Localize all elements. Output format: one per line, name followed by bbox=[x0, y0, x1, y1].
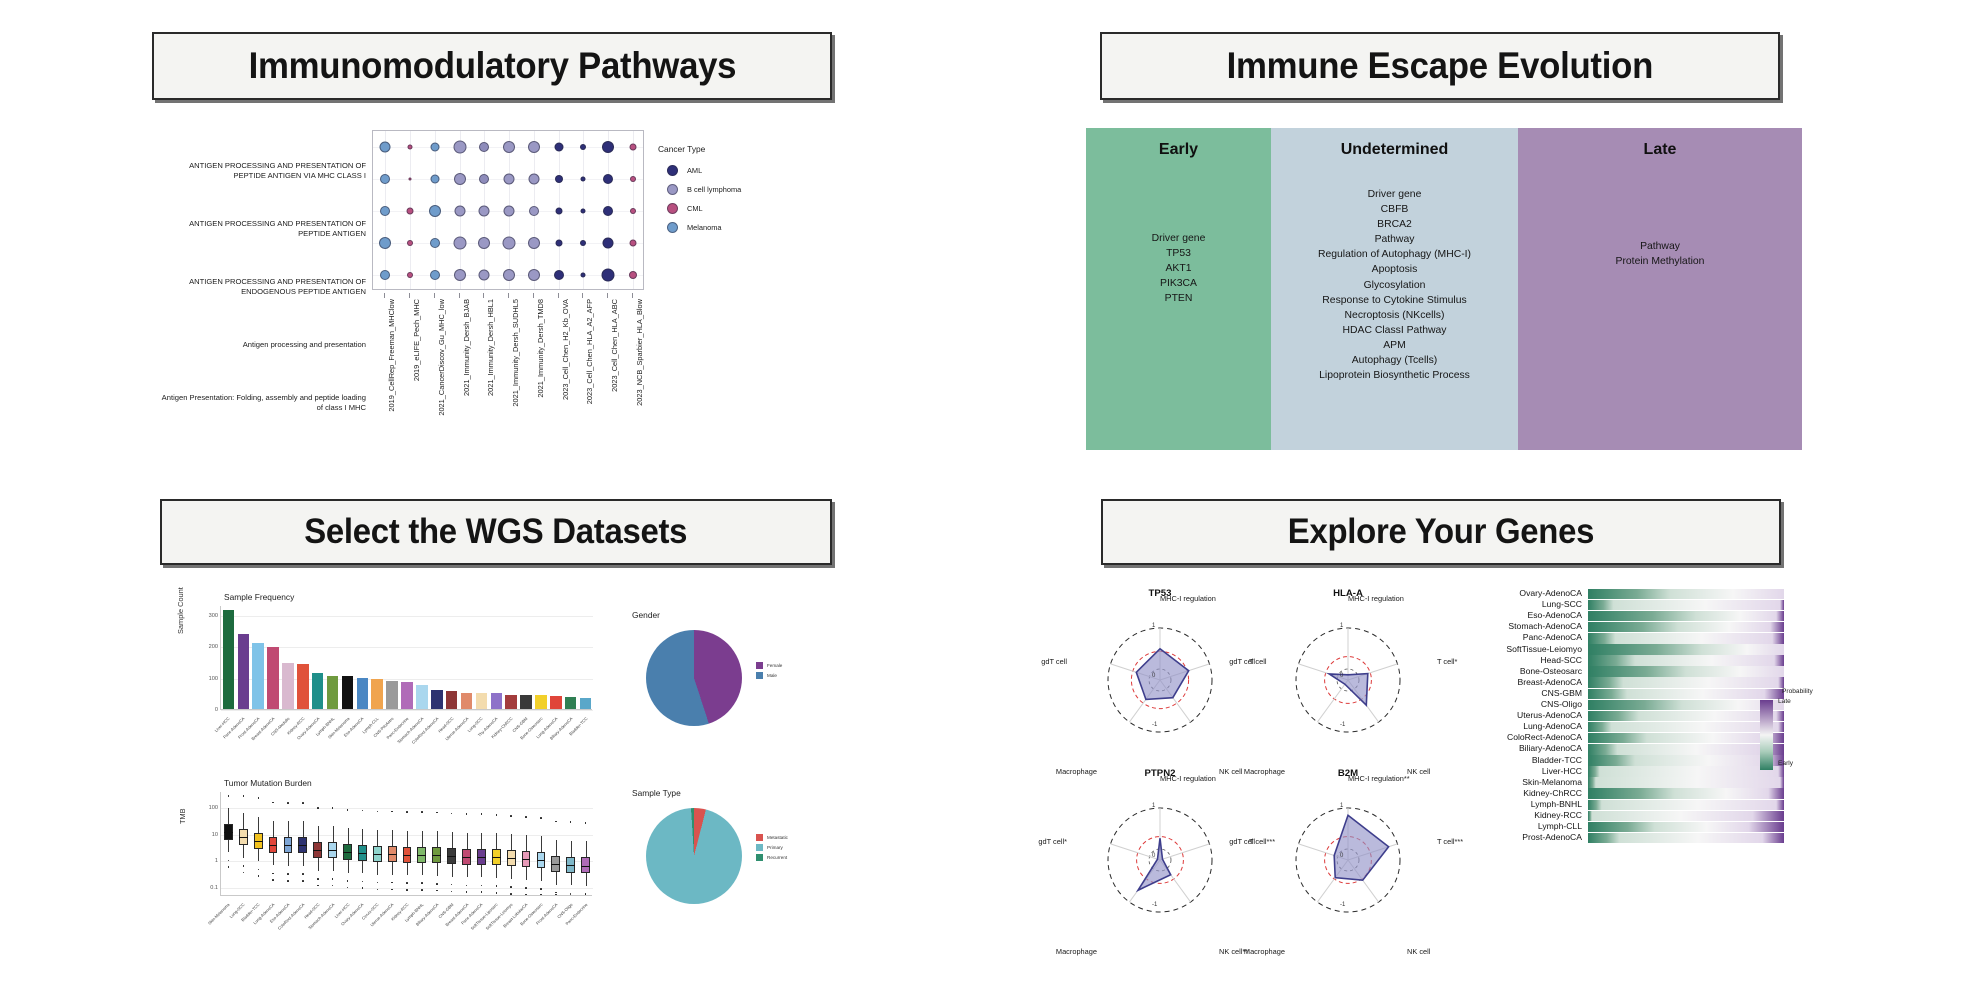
gender-pie-legend-label: Male bbox=[767, 673, 777, 678]
heatmap-row-label: SoftTissue-Leiomyo bbox=[1452, 644, 1582, 656]
dotplot-dot[interactable] bbox=[629, 271, 637, 279]
dotplot-xtick bbox=[483, 293, 484, 298]
evolution-item: Regulation of Autophagy (MHC-I) bbox=[1271, 247, 1518, 262]
dotplot-dot[interactable] bbox=[555, 240, 562, 247]
dotplot-column-label: 2021_Immunity_Dersh_TMD8 bbox=[536, 299, 545, 398]
sample-type-pie-legend-item[interactable]: Recurrent bbox=[756, 854, 788, 861]
freq-bar[interactable] bbox=[476, 693, 488, 709]
dotplot-dot[interactable] bbox=[408, 145, 413, 150]
tmb-outlier bbox=[466, 813, 468, 815]
tmb-median bbox=[313, 850, 322, 851]
sample-type-pie-legend-swatch bbox=[756, 854, 763, 861]
freq-bar[interactable] bbox=[446, 691, 458, 709]
tmb-ytick-label: 100 bbox=[194, 805, 218, 811]
tmb-outlier bbox=[302, 802, 304, 804]
dotplot-dot[interactable] bbox=[503, 141, 515, 153]
radar-chart-b2m[interactable]: B2MMHC-I regulation**T cell***NK cellMac… bbox=[1258, 768, 1438, 928]
freq-bar[interactable] bbox=[357, 678, 369, 709]
tmb-median bbox=[239, 837, 248, 838]
tmb-outlier bbox=[287, 880, 289, 882]
gender-pie-legend-label: Female bbox=[767, 663, 782, 668]
dotplot-legend-item[interactable]: CML bbox=[658, 199, 828, 218]
heatmap-row[interactable] bbox=[1588, 611, 1784, 622]
tmb-outlier bbox=[272, 873, 274, 875]
tmb-median bbox=[477, 857, 486, 858]
dotplot-dot[interactable] bbox=[430, 270, 440, 280]
heatmap-row-label: Bladder-TCC bbox=[1452, 755, 1582, 767]
tmb-outlier bbox=[228, 795, 230, 797]
dotplot-dot[interactable] bbox=[380, 174, 390, 184]
radar-scale-tick: 0 bbox=[1340, 853, 1343, 859]
dotplot-xtick bbox=[533, 293, 534, 298]
radar-spoke bbox=[1317, 680, 1348, 722]
tmb-median bbox=[581, 866, 590, 867]
gender-pie-legend-item[interactable]: Female bbox=[756, 662, 782, 669]
dotplot-dot[interactable] bbox=[555, 175, 563, 183]
freq-gridline bbox=[221, 710, 593, 711]
tmb-outlier bbox=[585, 893, 587, 895]
radar-axis-label: MHC-I regulation bbox=[1160, 594, 1216, 603]
section-title-immunomodulatory: Immunomodulatory Pathways bbox=[248, 45, 736, 87]
section-header-genes[interactable]: Explore Your Genes bbox=[1101, 499, 1781, 565]
heatmap-row-label: Breast-AdenoCA bbox=[1452, 677, 1582, 689]
sample-type-pie[interactable] bbox=[646, 808, 742, 904]
freq-bar[interactable] bbox=[223, 610, 235, 709]
dotplot-dot[interactable] bbox=[554, 270, 564, 280]
tmb-median bbox=[298, 845, 307, 846]
sample-type-pie-legend-item[interactable]: Metastatic bbox=[756, 834, 788, 841]
freq-bar[interactable] bbox=[505, 695, 517, 710]
tmb-outlier bbox=[406, 811, 408, 813]
freq-bar[interactable] bbox=[535, 695, 547, 709]
heatmap-row[interactable] bbox=[1588, 677, 1784, 688]
tmb-outlier bbox=[332, 878, 334, 880]
dotplot-dot[interactable] bbox=[479, 142, 489, 152]
dotplot-legend-item[interactable]: B cell lymphoma bbox=[658, 180, 828, 199]
evolution-column-undetermined[interactable]: UndeterminedDriver geneCBFBBRCA2PathwayR… bbox=[1271, 128, 1518, 450]
dotplot-dot[interactable] bbox=[554, 143, 563, 152]
tmb-outlier bbox=[481, 813, 483, 815]
dotplot-dot[interactable] bbox=[454, 269, 466, 281]
freq-bar[interactable] bbox=[327, 676, 339, 709]
tmb-median bbox=[358, 853, 367, 854]
tmb-outlier bbox=[347, 880, 349, 882]
dotplot-dot[interactable] bbox=[629, 240, 636, 247]
freq-bar[interactable] bbox=[491, 693, 503, 709]
heatmap-row[interactable] bbox=[1588, 722, 1784, 733]
heatmap-row[interactable] bbox=[1588, 666, 1784, 677]
dotplot-dot[interactable] bbox=[430, 143, 439, 152]
dotplot-legend-item[interactable]: Melanoma bbox=[658, 218, 828, 237]
dotplot-legend-swatch bbox=[667, 184, 678, 195]
freq-ytick-label: 0 bbox=[198, 707, 218, 713]
heatmap-row[interactable] bbox=[1588, 655, 1784, 666]
dotplot-dot[interactable] bbox=[479, 206, 490, 217]
freq-bar[interactable] bbox=[312, 673, 324, 709]
heatmap-row-label: Ovary-AdenoCA bbox=[1452, 588, 1582, 600]
radar-polygon[interactable] bbox=[1334, 815, 1388, 880]
dotplot-column-label: 2023_Cell_Chen_H2_Kb_OVA bbox=[561, 299, 570, 400]
heatmap-row[interactable] bbox=[1588, 777, 1784, 788]
dotplot-xtick bbox=[558, 293, 559, 298]
tmb-outlier bbox=[540, 894, 542, 896]
dotplot-dot[interactable] bbox=[529, 206, 539, 216]
tmb-outlier bbox=[451, 884, 453, 886]
freq-bar[interactable] bbox=[401, 682, 413, 709]
sample-type-pie-legend-label: Metastatic bbox=[767, 835, 788, 840]
gender-pie-legend: FemaleMale bbox=[756, 662, 782, 682]
tmb-outlier bbox=[317, 885, 319, 887]
tmb-median bbox=[566, 865, 575, 866]
dotplot-dot[interactable] bbox=[581, 209, 586, 214]
evolution-item: APM bbox=[1271, 338, 1518, 353]
heatmap-row[interactable] bbox=[1588, 589, 1784, 600]
evolution-item: Apoptosis bbox=[1271, 262, 1518, 277]
dotplot-dot[interactable] bbox=[504, 174, 515, 185]
sample-type-pie-legend-label: Primary bbox=[767, 845, 783, 850]
heatmap-row-label: Prost-AdenoCA bbox=[1452, 832, 1582, 844]
tmb-outlier bbox=[258, 875, 260, 877]
freq-bar[interactable] bbox=[371, 679, 383, 709]
dotplot-dot[interactable] bbox=[528, 174, 539, 185]
dotplot-dot[interactable] bbox=[581, 273, 586, 278]
dotplot-dot[interactable] bbox=[430, 238, 440, 248]
tmb-outlier bbox=[391, 811, 393, 813]
tmb-outlier bbox=[421, 889, 423, 891]
tmb-median bbox=[403, 855, 412, 856]
heatmap-row-label: Lung-AdenoCA bbox=[1452, 721, 1582, 733]
dotplot-legend-swatch bbox=[667, 222, 678, 233]
section-title-wgs: Select the WGS Datasets bbox=[305, 512, 688, 552]
tmb-outlier bbox=[272, 802, 274, 804]
dotplot-dot[interactable] bbox=[504, 206, 515, 217]
gender-pie-legend-swatch bbox=[756, 672, 763, 679]
sample-type-pie-legend-item[interactable]: Primary bbox=[756, 844, 788, 851]
heatmap-row[interactable] bbox=[1588, 700, 1784, 711]
dotplot-dot[interactable] bbox=[454, 206, 465, 217]
heatmap-row[interactable] bbox=[1588, 755, 1784, 766]
dotplot-column-label: 2021_Immunity_Dersh_BJAB bbox=[462, 299, 471, 396]
tmb-outlier bbox=[510, 886, 512, 888]
tmb-outlier bbox=[585, 822, 587, 824]
heatmap-row[interactable] bbox=[1588, 733, 1784, 744]
tmb-outlier bbox=[362, 887, 364, 889]
heatmap-row-label: Biliary-AdenoCA bbox=[1452, 743, 1582, 755]
dotplot-dot[interactable] bbox=[580, 240, 586, 246]
tmb-outlier bbox=[466, 891, 468, 893]
dotplot-dot[interactable] bbox=[380, 142, 391, 153]
tmb-outlier bbox=[287, 802, 289, 804]
tmb-outlier bbox=[510, 815, 512, 817]
sample-frequency-ylabel: Sample Count bbox=[176, 587, 185, 634]
dotplot-dot[interactable] bbox=[479, 174, 489, 184]
tmb-outlier bbox=[525, 894, 527, 896]
heatmap-row-label: Kidney-RCC bbox=[1452, 810, 1582, 822]
evolution-item: Driver gene bbox=[1086, 231, 1271, 246]
radar-polygon[interactable] bbox=[1329, 674, 1368, 706]
dotplot-column-label: 2021_Immunity_Dersh_SUDHL5 bbox=[511, 299, 520, 407]
tmb-outlier bbox=[302, 880, 304, 882]
heatmap-row[interactable] bbox=[1588, 788, 1784, 799]
dotplot-dot[interactable] bbox=[630, 176, 636, 182]
tmb-outlier bbox=[510, 893, 512, 895]
dotplot-dot[interactable] bbox=[528, 269, 540, 281]
dotplot-plot-area bbox=[372, 130, 644, 290]
gender-pie[interactable] bbox=[646, 630, 742, 726]
dotplot-column-label: 2021_CancerDiscov_Gu_MHC_low bbox=[437, 299, 446, 416]
tmb-median bbox=[492, 857, 501, 858]
radar-chart-hla-a[interactable]: HLA-AMHC-I regulationT cell*NK cellMacro… bbox=[1258, 588, 1438, 748]
tmb-ytick-label: 10 bbox=[194, 832, 218, 838]
dotplot-dot[interactable] bbox=[453, 141, 466, 154]
tmb-outlier bbox=[436, 890, 438, 892]
tmb-outlier bbox=[496, 885, 498, 887]
dotplot-legend-label: B cell lymphoma bbox=[687, 185, 741, 194]
dotplot-dot[interactable] bbox=[379, 237, 391, 249]
dotplot-dot[interactable] bbox=[503, 269, 515, 281]
freq-bar[interactable] bbox=[297, 664, 309, 709]
radar-scale-tick: 1 bbox=[1340, 803, 1343, 809]
dotplot-dot[interactable] bbox=[528, 237, 540, 249]
heatmap-row-label: Stomach-AdenoCA bbox=[1452, 621, 1582, 633]
heatmap-row-label: Eso-AdenoCA bbox=[1452, 610, 1582, 622]
dotplot-dot[interactable] bbox=[430, 175, 439, 184]
heatmap-row[interactable] bbox=[1588, 811, 1784, 822]
dotplot-dot[interactable] bbox=[479, 270, 490, 281]
tmb-outlier bbox=[377, 889, 379, 891]
tmb-outlier bbox=[481, 891, 483, 893]
dotplot-legend-item[interactable]: AML bbox=[658, 161, 828, 180]
evolution-item: Pathway bbox=[1271, 232, 1518, 247]
radar-chart-tp53[interactable]: TP53MHC-I regulationT cellNK cellMacroph… bbox=[1070, 588, 1250, 748]
dotplot-dot[interactable] bbox=[601, 269, 614, 282]
evolution-item: Lipoprotein Biosynthetic Process bbox=[1271, 368, 1518, 383]
tmb-outlier bbox=[302, 873, 304, 875]
freq-bar[interactable] bbox=[252, 643, 264, 709]
tmb-median bbox=[284, 845, 293, 846]
tmb-median bbox=[447, 856, 456, 857]
radar-axis-label: gdT cell bbox=[1229, 657, 1255, 666]
tmb-outlier bbox=[406, 889, 408, 891]
tmb-outlier bbox=[421, 811, 423, 813]
dotplot-column-labels: 2019_CellRep_Freeman_MHClow2019_eLIFE_Pe… bbox=[372, 293, 644, 463]
evolution-column-title: Late bbox=[1518, 141, 1802, 159]
heatmap-row[interactable] bbox=[1588, 766, 1784, 777]
freq-ytick-label: 100 bbox=[198, 676, 218, 682]
radar-scale-tick: -1 bbox=[1340, 722, 1345, 728]
dotplot-dot[interactable] bbox=[555, 208, 562, 215]
tmb-outlier bbox=[391, 882, 393, 884]
radar-polygon[interactable] bbox=[1136, 649, 1188, 700]
tmb-outlier bbox=[258, 869, 260, 871]
dotplot-dot[interactable] bbox=[407, 272, 413, 278]
dotplot-dot[interactable] bbox=[503, 237, 516, 250]
dotplot-dot[interactable] bbox=[429, 205, 441, 217]
colorbar-high-label: Late bbox=[1778, 698, 1791, 705]
tmb-title: Tumor Mutation Burden bbox=[224, 778, 312, 788]
tmb-outlier bbox=[258, 797, 260, 799]
dotplot-row-label: Antigen processing and presentation bbox=[160, 316, 370, 374]
dotplot-legend-label: CML bbox=[687, 204, 703, 213]
heatmap-row[interactable] bbox=[1588, 800, 1784, 811]
dotplot-dot[interactable] bbox=[407, 240, 413, 246]
evolution-item: AKT1 bbox=[1086, 261, 1271, 276]
freq-bar[interactable] bbox=[461, 693, 473, 709]
tmb-outlier bbox=[421, 882, 423, 884]
evolution-item: Necroptosis (NKcells) bbox=[1271, 308, 1518, 323]
radar-svg bbox=[1070, 588, 1250, 748]
sample-type-pie-title: Sample Type bbox=[632, 788, 681, 798]
freq-bar[interactable] bbox=[565, 697, 577, 709]
dotplot-legend-swatch bbox=[667, 165, 678, 176]
tmb-outlier bbox=[287, 873, 289, 875]
section-header-wgs[interactable]: Select the WGS Datasets bbox=[160, 499, 832, 565]
heatmap-row-label: Head-SCC bbox=[1452, 655, 1582, 667]
tmb-median bbox=[254, 841, 263, 842]
dotplot-dot[interactable] bbox=[602, 238, 613, 249]
dotplot-dot[interactable] bbox=[528, 141, 540, 153]
freq-ytick-label: 300 bbox=[198, 613, 218, 619]
heatmap-row-label: Kidney-ChRCC bbox=[1452, 788, 1582, 800]
evolution-item: Pathway bbox=[1518, 239, 1802, 254]
dotplot-column-label: 2023_Cell_Chen_HLA_ABC bbox=[610, 299, 619, 392]
tmb-outlier bbox=[243, 865, 245, 867]
poster-canvas: Immunomodulatory Pathways Immune Escape … bbox=[0, 0, 1976, 1008]
evolution-column-items: Driver geneTP53AKT1PIK3CAPTEN bbox=[1086, 231, 1271, 306]
freq-bar[interactable] bbox=[416, 685, 428, 709]
tmb-median bbox=[462, 857, 471, 858]
heatmap-row-label: Skin-Melanoma bbox=[1452, 777, 1582, 789]
dotplot-xtick bbox=[632, 293, 633, 298]
dotplot-dot[interactable] bbox=[603, 174, 613, 184]
evolution-item: HDAC ClassI Pathway bbox=[1271, 323, 1518, 338]
dotplot-xtick bbox=[582, 293, 583, 298]
dotplot-legend-swatch bbox=[667, 203, 678, 214]
heatmap-row[interactable] bbox=[1588, 711, 1784, 722]
radar-axis-label: gdT cell bbox=[1041, 657, 1067, 666]
freq-bar[interactable] bbox=[282, 663, 294, 709]
dotplot-column-label: 2019_CellRep_Freeman_MHClow bbox=[387, 299, 396, 412]
tmb-outlier bbox=[436, 812, 438, 814]
sample-type-pie-legend-label: Recurrent bbox=[767, 855, 787, 860]
tmb-median bbox=[388, 854, 397, 855]
probability-colorbar: Probability Late Early bbox=[1760, 690, 1840, 780]
dotplot-dot[interactable] bbox=[581, 177, 586, 182]
dotplot-column-label: 2023_Cell_Chen_HLA_A2_AFP bbox=[585, 299, 594, 404]
heatmap-row[interactable] bbox=[1588, 600, 1784, 611]
tmb-outlier bbox=[525, 816, 527, 818]
dotplot-row-label: ANTIGEN PROCESSING AND PRESENTATION OF P… bbox=[160, 200, 370, 258]
heatmap-row-label: Lymph-CLL bbox=[1452, 821, 1582, 833]
dotplot-legend-label: AML bbox=[687, 166, 702, 175]
heatmap-row-label: Lymph-BNHL bbox=[1452, 799, 1582, 811]
gender-pie-legend-item[interactable]: Male bbox=[756, 672, 782, 679]
dotplot-dot[interactable] bbox=[407, 208, 414, 215]
dotplot-dot[interactable] bbox=[603, 206, 613, 216]
freq-bar[interactable] bbox=[580, 698, 592, 709]
evolution-item: CBFB bbox=[1271, 202, 1518, 217]
dotplot-dot[interactable] bbox=[580, 144, 586, 150]
radar-axis-label: Macrophage bbox=[1244, 947, 1285, 956]
radar-chart-ptpn2[interactable]: PTPN2MHC-I regulationT cell***NK cell**M… bbox=[1070, 768, 1250, 928]
dotplot-dot[interactable] bbox=[629, 144, 636, 151]
sample-frequency-chart: Sample Frequency Sample Count Liver-HCCP… bbox=[180, 592, 600, 762]
evolution-column-late[interactable]: LatePathwayProtein Methylation bbox=[1518, 128, 1802, 450]
dotplot-dot[interactable] bbox=[453, 237, 466, 250]
radar-scale-tick: 0 bbox=[1152, 853, 1155, 859]
radar-axis-label: gdT cell* bbox=[1038, 837, 1067, 846]
tmb-outlier bbox=[525, 887, 527, 889]
heatmap-row[interactable] bbox=[1588, 744, 1784, 755]
tmb-outlier bbox=[362, 881, 364, 883]
tmb-median bbox=[537, 860, 546, 861]
dotplot-row-labels: ANTIGEN PROCESSING AND PRESENTATION OF P… bbox=[160, 142, 370, 432]
freq-bar[interactable] bbox=[431, 690, 443, 709]
section-header-immunomodulatory[interactable]: Immunomodulatory Pathways bbox=[152, 32, 832, 100]
evolution-item: BRCA2 bbox=[1271, 217, 1518, 232]
heatmap-row[interactable] bbox=[1588, 822, 1784, 833]
immune-escape-columns: EarlyDriver geneTP53AKT1PIK3CAPTENUndete… bbox=[1086, 128, 1802, 450]
freq-bar[interactable] bbox=[550, 696, 562, 709]
colorbar-title: Probability bbox=[1782, 688, 1813, 695]
freq-bar[interactable] bbox=[386, 681, 398, 709]
dotplot-dot[interactable] bbox=[630, 208, 636, 214]
evolution-item: Response to Cytokine Stimulus bbox=[1271, 293, 1518, 308]
evolution-item: Protein Methylation bbox=[1518, 254, 1802, 269]
radar-scale-tick: 0 bbox=[1340, 673, 1343, 679]
heatmap-row[interactable] bbox=[1588, 622, 1784, 633]
freq-bar[interactable] bbox=[520, 695, 532, 709]
colorbar-gradient bbox=[1760, 700, 1773, 770]
dotplot-dot[interactable] bbox=[602, 141, 614, 153]
tmb-outlier bbox=[377, 811, 379, 813]
dotplot-dot[interactable] bbox=[409, 178, 412, 181]
tmb-outlier bbox=[362, 810, 364, 812]
dotplot-row-label: Antigen Presentation: Folding, assembly … bbox=[160, 374, 370, 432]
dotplot-legend-title: Cancer Type bbox=[658, 144, 828, 154]
radar-axis-label: Macrophage bbox=[1056, 947, 1097, 956]
radar-scale-tick: -1 bbox=[1340, 902, 1345, 908]
heatmap-row[interactable] bbox=[1588, 633, 1784, 644]
dotplot-xtick bbox=[384, 293, 385, 298]
gender-pie-legend-swatch bbox=[756, 662, 763, 669]
evolution-item: TP53 bbox=[1086, 246, 1271, 261]
freq-bar[interactable] bbox=[267, 647, 279, 709]
dotplot-dot[interactable] bbox=[380, 270, 390, 280]
freq-bar[interactable] bbox=[342, 676, 354, 709]
freq-bar[interactable] bbox=[238, 634, 250, 709]
heatmap-row[interactable] bbox=[1588, 833, 1784, 844]
dotplot-dot[interactable] bbox=[380, 206, 390, 216]
heatmap-row-label: Liver-HCC bbox=[1452, 766, 1582, 778]
heatmap-row[interactable] bbox=[1588, 689, 1784, 700]
heatmap-row[interactable] bbox=[1588, 644, 1784, 655]
heatmap-row-label: Bone-Osteosarc bbox=[1452, 666, 1582, 678]
dotplot-xtick bbox=[409, 293, 410, 298]
freq-gridline bbox=[221, 616, 593, 617]
tmb-outlier bbox=[555, 821, 557, 823]
dotplot-row-label: ANTIGEN PROCESSING AND PRESENTATION OF E… bbox=[160, 258, 370, 316]
tmb-median bbox=[507, 858, 516, 859]
tmb-outlier bbox=[570, 893, 572, 895]
dotplot-dot[interactable] bbox=[454, 173, 466, 185]
section-header-immune-escape[interactable]: Immune Escape Evolution bbox=[1100, 32, 1780, 100]
tmb-ylabel: TMB bbox=[178, 808, 187, 824]
sample-frequency-title: Sample Frequency bbox=[224, 592, 294, 602]
dotplot-dot[interactable] bbox=[478, 237, 490, 249]
tmb-outlier bbox=[317, 878, 319, 880]
evolution-column-early[interactable]: EarlyDriver geneTP53AKT1PIK3CAPTEN bbox=[1086, 128, 1271, 450]
